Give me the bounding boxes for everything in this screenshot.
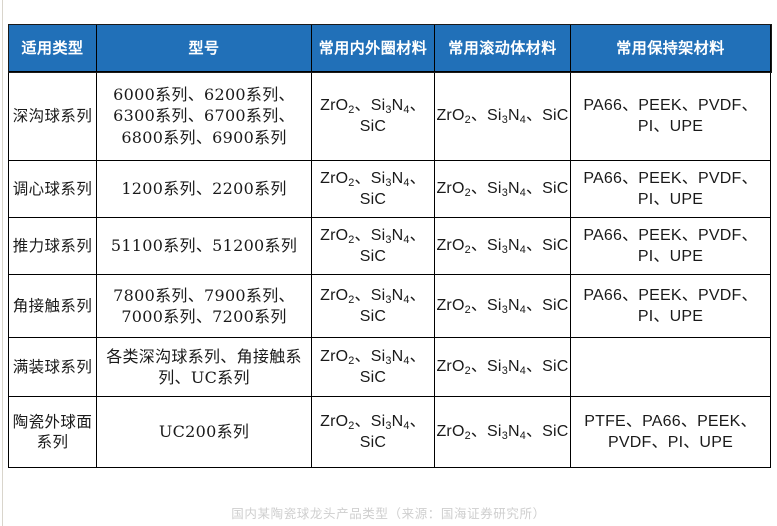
cell-cage-material — [571, 338, 771, 397]
table-row: 推力球系列 51100系列、51200系列 ZrO2、Si3N4、SiC ZrO… — [9, 218, 771, 275]
cell-model: UC200系列 — [97, 397, 312, 468]
cell-cage-material: PTFE、PA66、PEEK、PVDF、PI、UPE — [571, 397, 771, 468]
cell-ring-material: ZrO2、Si3N4、SiC — [312, 338, 435, 397]
cell-type: 推力球系列 — [9, 218, 97, 275]
table-header-row: 适用类型 型号 常用内外圈材料 常用滚动体材料 常用保持架材料 — [9, 25, 771, 72]
cell-ring-material: ZrO2、Si3N4、SiC — [312, 218, 435, 275]
cell-rolling-material: ZrO2、Si3N4、SiC — [435, 397, 571, 468]
bearing-product-table: 适用类型 型号 常用内外圈材料 常用滚动体材料 常用保持架材料 深沟球系列 60… — [8, 24, 771, 468]
cell-rolling-material: ZrO2、Si3N4、SiC — [435, 275, 571, 338]
table-row: 调心球系列 1200系列、2200系列 ZrO2、Si3N4、SiC ZrO2、… — [9, 161, 771, 218]
cell-model: 1200系列、2200系列 — [97, 161, 312, 218]
cell-rolling-material: ZrO2、Si3N4、SiC — [435, 218, 571, 275]
table-row: 满装球系列 各类深沟球系列、角接触系列、UC系列 ZrO2、Si3N4、SiC … — [9, 338, 771, 397]
column-header-ring-material: 常用内外圈材料 — [312, 25, 435, 72]
figure-caption: 国内某陶瓷球龙头产品类型（来源：国海证券研究所） — [0, 503, 777, 522]
cell-ring-material: ZrO2、Si3N4、SiC — [312, 397, 435, 468]
cell-rolling-material: ZrO2、Si3N4、SiC — [435, 72, 571, 161]
cell-cage-material: PA66、PEEK、PVDF、PI、UPE — [571, 218, 771, 275]
cell-rolling-material: ZrO2、Si3N4、SiC — [435, 161, 571, 218]
cell-ring-material: ZrO2、Si3N4、SiC — [312, 161, 435, 218]
cell-model: 各类深沟球系列、角接触系列、UC系列 — [97, 338, 312, 397]
cell-ring-material: ZrO2、Si3N4、SiC — [312, 72, 435, 161]
table-row: 陶瓷外球面系列 UC200系列 ZrO2、Si3N4、SiC ZrO2、Si3N… — [9, 397, 771, 468]
column-header-applicable-type: 适用类型 — [9, 25, 97, 72]
table-row: 深沟球系列 6000系列、6200系列、6300系列、6700系列、6800系列… — [9, 72, 771, 161]
column-header-cage-material: 常用保持架材料 — [571, 25, 771, 72]
cell-cage-material: PA66、PEEK、PVDF、PI、UPE — [571, 72, 771, 161]
cell-type: 陶瓷外球面系列 — [9, 397, 97, 468]
cell-ring-material: ZrO2、Si3N4、SiC — [312, 275, 435, 338]
cell-model: 7800系列、7900系列、7000系列、7200系列 — [97, 275, 312, 338]
cell-cage-material: PA66、PEEK、PVDF、PI、UPE — [571, 161, 771, 218]
cell-model: 51100系列、51200系列 — [97, 218, 312, 275]
cell-model: 6000系列、6200系列、6300系列、6700系列、6800系列、6900系… — [97, 72, 312, 161]
column-header-rolling-element-material: 常用滚动体材料 — [435, 25, 571, 72]
cell-rolling-material: ZrO2、Si3N4、SiC — [435, 338, 571, 397]
cell-type: 深沟球系列 — [9, 72, 97, 161]
column-header-model: 型号 — [97, 25, 312, 72]
table-row: 角接触系列 7800系列、7900系列、7000系列、7200系列 ZrO2、S… — [9, 275, 771, 338]
cell-type: 调心球系列 — [9, 161, 97, 218]
cell-type: 满装球系列 — [9, 338, 97, 397]
cell-type: 角接触系列 — [9, 275, 97, 338]
cell-cage-material: PA66、PEEK、PVDF、PI、UPE — [571, 275, 771, 338]
page-left-rule — [2, 0, 3, 526]
page-canvas: 适用类型 型号 常用内外圈材料 常用滚动体材料 常用保持架材料 深沟球系列 60… — [0, 0, 777, 526]
bearing-product-table-wrapper: 适用类型 型号 常用内外圈材料 常用滚动体材料 常用保持架材料 深沟球系列 60… — [8, 24, 770, 468]
table-body: 深沟球系列 6000系列、6200系列、6300系列、6700系列、6800系列… — [9, 72, 771, 468]
table-header: 适用类型 型号 常用内外圈材料 常用滚动体材料 常用保持架材料 — [9, 25, 771, 72]
